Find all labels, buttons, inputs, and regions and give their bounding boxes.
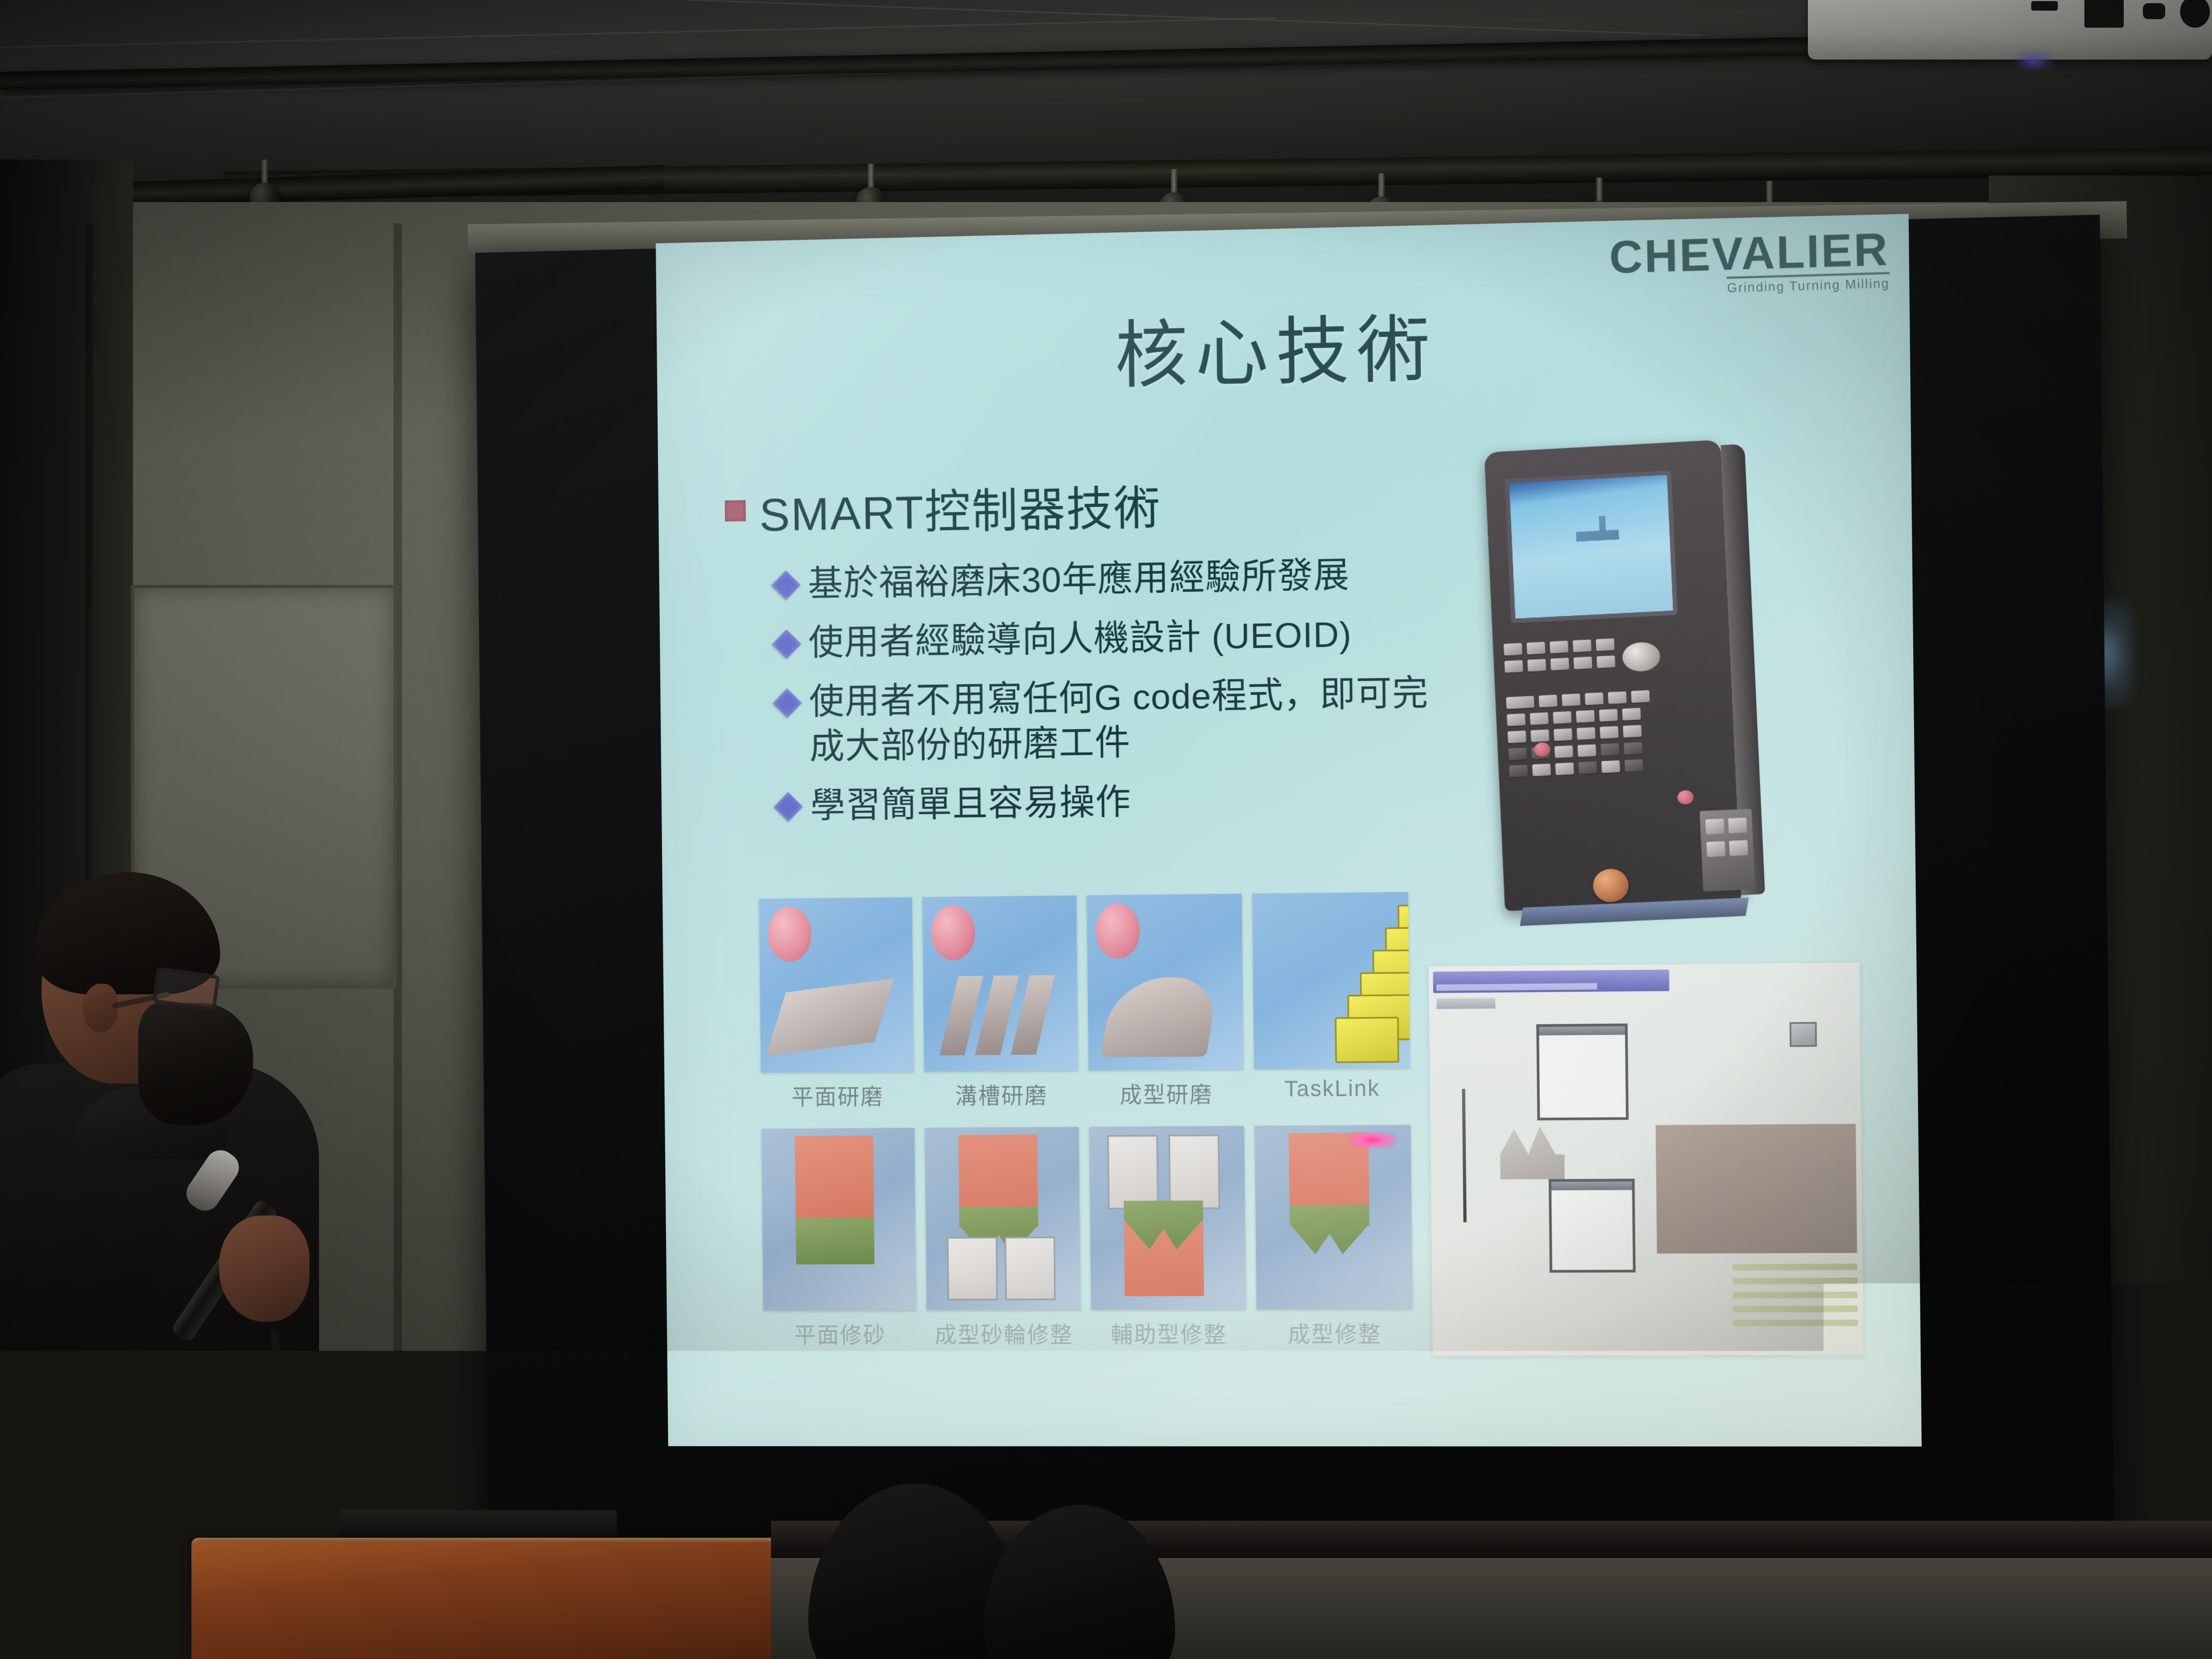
software-toolbar <box>1436 998 1495 1009</box>
tasklink-thumbnail <box>1252 892 1410 1069</box>
thumbnail-caption: 成型修整 <box>1256 1316 1413 1349</box>
task-card <box>1335 1017 1399 1063</box>
software-ruler <box>1462 1089 1467 1222</box>
tasklink-software-screenshot <box>1429 962 1864 1355</box>
dialog-title-bar <box>1539 1026 1625 1035</box>
keypad-key <box>1622 708 1641 720</box>
workpiece-shape <box>940 976 984 1055</box>
projector-port <box>2143 3 2165 19</box>
projection-screen: CHEVALIER Grinding Turning Milling 核心技術 … <box>475 215 2114 1560</box>
projector-vent <box>2031 1 2058 11</box>
assisted-dressing-thumbnail <box>1089 1126 1246 1309</box>
main-bullet-label: SMART控制器技術 <box>759 481 1161 541</box>
data-row <box>1733 1278 1857 1285</box>
dialog-title-bar <box>1552 1182 1632 1191</box>
sub-bullet: 使用者不用寫任何G code程式，即可完成大部份的研磨工件 <box>777 669 1477 770</box>
data-row <box>1732 1264 1857 1271</box>
presenter-resting-hand <box>223 1361 298 1430</box>
software-dialog <box>1536 1024 1629 1120</box>
keypad-key <box>1549 641 1568 653</box>
grid-cell <box>761 1128 916 1310</box>
cnc-controller-photo <box>1468 438 1770 949</box>
projector-knob <box>2180 0 2210 28</box>
slot-grinding-thumbnail <box>923 895 1078 1071</box>
dressing-profile <box>1289 1205 1370 1254</box>
side-panel-key <box>1706 841 1725 857</box>
screen-graphic-icon <box>1575 515 1619 541</box>
workpiece-shape <box>766 978 894 1055</box>
software-data-list <box>1732 1264 1858 1334</box>
software-title-bar <box>1433 969 1669 993</box>
projector-indicator-light <box>2015 51 2052 70</box>
keypad-key <box>1506 696 1534 709</box>
keypad-key <box>1527 642 1545 655</box>
tool-box <box>1168 1135 1220 1209</box>
bullet-list: SMART控制器技術 基於福裕磨床30年應用經驗所發展 使用者經驗導向人機設計 … <box>725 475 1477 843</box>
grinding-wheel-icon <box>931 905 976 960</box>
keypad-row <box>1506 688 1695 709</box>
keypad-key <box>1509 765 1528 777</box>
thumbnail-caption: TaskLink <box>1254 1075 1411 1109</box>
keypad-key <box>1539 695 1557 708</box>
keypad-key <box>1602 760 1620 773</box>
grid-cell <box>759 897 914 1073</box>
square-bullet-icon <box>725 500 745 522</box>
keypad-key <box>1507 731 1526 743</box>
podium <box>191 1542 787 1659</box>
keypad-key <box>1599 709 1618 722</box>
keypad-key <box>1531 730 1549 742</box>
keypad-key <box>1585 692 1603 705</box>
diamond-bullet-icon <box>772 571 801 600</box>
sub-bullet-label: 基於福裕磨床30年應用經驗所發展 <box>808 552 1350 607</box>
projector-lens <box>2084 0 2124 28</box>
keypad-key <box>1507 714 1526 726</box>
keypad-key <box>1553 711 1571 724</box>
grid-row-2-captions: 平面修砂 成型砂輪修整 輔助型修整 成型修整 <box>764 1316 1422 1350</box>
grinding-mode-grid: 平面研磨 溝槽研磨 成型研磨 TaskLink <box>759 892 1423 1350</box>
keypad-key <box>1608 691 1627 704</box>
grid-cell <box>1089 1126 1246 1309</box>
keypad-key <box>1601 743 1619 756</box>
keypad-key <box>1600 726 1619 739</box>
tool-box <box>1004 1237 1055 1301</box>
software-part-preview <box>1500 1120 1565 1179</box>
thumbnail-caption: 成型研磨 <box>1088 1077 1244 1110</box>
data-row <box>1733 1320 1858 1327</box>
controller-lcd-screen <box>1505 470 1678 623</box>
presenter-ear <box>83 984 118 1033</box>
keypad-key <box>1577 727 1595 740</box>
grinding-wheel-icon <box>767 907 811 962</box>
keypad-row <box>1507 722 1696 743</box>
presentation-room-photo: CHEVALIER Grinding Turning Milling 核心技術 … <box>0 0 2212 1659</box>
grinding-wheel-icon <box>1095 903 1140 959</box>
projector <box>1808 0 2212 60</box>
tool-box <box>947 1237 998 1301</box>
diamond-bullet-icon <box>774 792 803 822</box>
keypad-key <box>1578 744 1596 757</box>
form-dressing-thumbnail <box>1255 1125 1413 1310</box>
keypad-key <box>1597 656 1615 668</box>
presenter-hand <box>219 1216 309 1322</box>
keypad-key <box>1573 640 1591 652</box>
keypad-key <box>1504 660 1523 673</box>
keypad-key <box>1624 742 1643 755</box>
thumbnail-caption: 輔助型修整 <box>1091 1317 1246 1349</box>
tool-box <box>1107 1135 1159 1209</box>
grid-cell <box>1087 894 1244 1070</box>
side-panel-key <box>1728 818 1747 834</box>
keypad-key <box>1555 763 1574 775</box>
sub-bullet: 學習簡單且容易操作 <box>778 775 1477 829</box>
form-grinding-thumbnail <box>1087 894 1244 1070</box>
form-wheel-dressing-thumbnail <box>925 1127 1080 1310</box>
data-row <box>1733 1292 1857 1298</box>
keypad-key <box>1509 748 1527 760</box>
thumbnail-caption: 平面修砂 <box>764 1318 917 1350</box>
keypad-key <box>1578 761 1597 774</box>
keypad-key <box>1624 759 1643 772</box>
keypad-key <box>1623 725 1641 738</box>
keypad-key <box>1596 639 1614 651</box>
controller-keypad <box>1504 634 1698 783</box>
keypad-key <box>1527 659 1546 672</box>
thumbnail-caption: 溝槽研磨 <box>924 1078 1078 1111</box>
data-row <box>1733 1305 1857 1312</box>
sub-bullet: 使用者經驗導向人機設計 (UEOID) <box>776 610 1475 666</box>
side-panel-key <box>1705 819 1724 835</box>
side-panel-key <box>1729 840 1748 856</box>
thumbnail-caption: 平面研磨 <box>761 1079 914 1112</box>
diamond-bullet-icon <box>773 688 802 718</box>
keypad-key <box>1554 745 1573 758</box>
keypad-key <box>1573 657 1592 669</box>
flat-dressing-thumbnail <box>761 1128 916 1310</box>
sub-bullet-label: 學習簡單且容易操作 <box>810 780 1132 829</box>
laser-pointer-dot <box>1348 1132 1397 1149</box>
keypad-row <box>1509 757 1698 777</box>
wheel-block <box>795 1136 874 1228</box>
grid-row-1-captions: 平面研磨 溝槽研磨 成型研磨 TaskLink <box>761 1075 1420 1112</box>
flat-grinding-thumbnail <box>759 897 914 1073</box>
slide-title: 核心技術 <box>656 279 1910 412</box>
diamond-bullet-icon <box>772 629 801 659</box>
presentation-slide: CHEVALIER Grinding Turning Milling 核心技術 … <box>656 214 1922 1446</box>
keypad-row <box>1504 651 1692 673</box>
keypad-key <box>1504 643 1522 656</box>
sub-bullet-label: 使用者不用寫任何G code程式，即可完成大部份的研磨工件 <box>809 670 1432 769</box>
workpiece-shape <box>1011 975 1055 1055</box>
keypad-key <box>1551 658 1569 671</box>
sub-bullet: 基於福裕磨床30年應用經驗所發展 <box>775 550 1474 607</box>
grid-cell <box>923 895 1078 1071</box>
keypad-key <box>1554 728 1572 741</box>
keypad-key <box>1532 764 1551 776</box>
main-bullet: SMART控制器技術 <box>725 475 1474 542</box>
grid-cell <box>925 1127 1080 1310</box>
keypad-key <box>1631 690 1649 703</box>
grid-row-2 <box>761 1125 1422 1310</box>
workpiece-shape <box>1101 977 1219 1057</box>
software-mini-icon <box>1790 1022 1817 1047</box>
grid-cell <box>1255 1125 1413 1310</box>
thumbnail-caption: 成型砂輪修整 <box>927 1317 1081 1350</box>
keypad-key <box>1530 713 1548 725</box>
grid-cell <box>1252 892 1410 1069</box>
dressing-profile <box>795 1218 874 1264</box>
keypad-row <box>1507 705 1696 726</box>
keypad-key <box>1576 710 1595 723</box>
grid-row-1 <box>759 892 1420 1073</box>
software-dialog <box>1548 1179 1636 1273</box>
workpiece-shape <box>975 975 1019 1055</box>
sub-bullet-label: 使用者經驗導向人機設計 (UEOID) <box>808 612 1352 666</box>
keypad-key <box>1562 693 1580 706</box>
software-preview-panel <box>1656 1124 1857 1254</box>
